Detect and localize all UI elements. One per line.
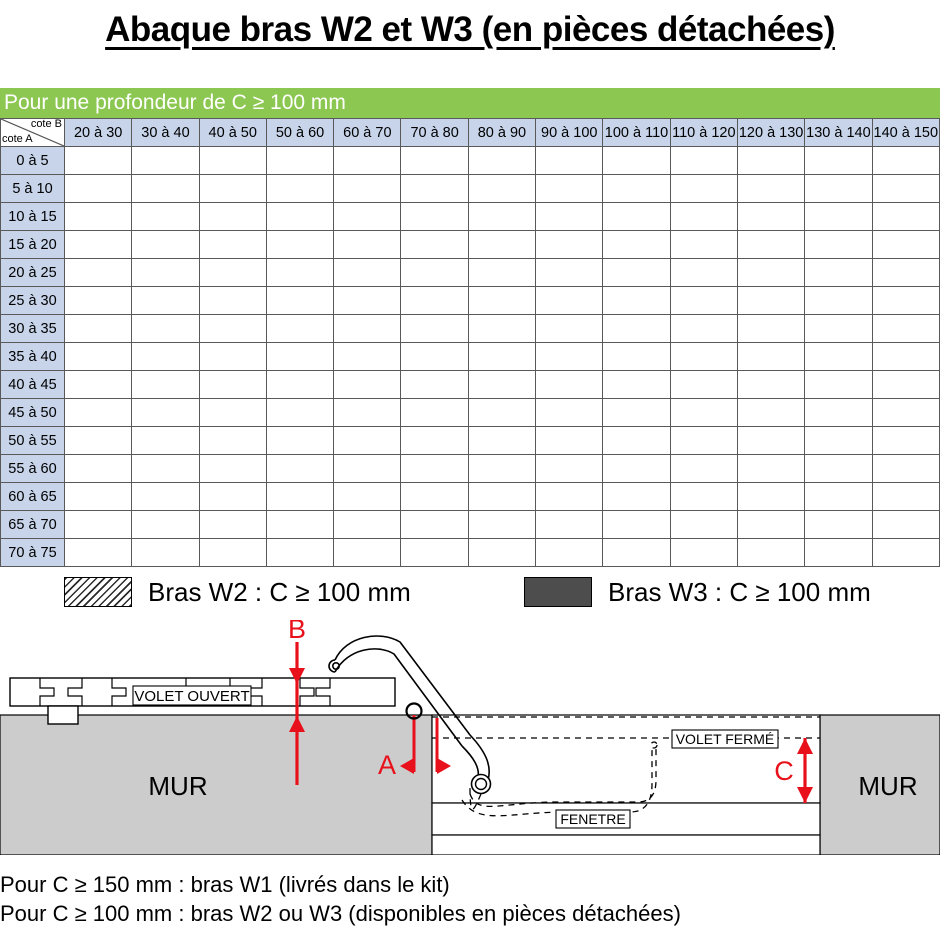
cell-r8-c5 <box>401 371 468 399</box>
cell-r13-c5 <box>401 511 468 539</box>
label-volet-ouvert: VOLET OUVERT <box>133 686 251 705</box>
cell-r8-c12 <box>872 371 939 399</box>
cell-r13-c8 <box>603 511 670 539</box>
cell-r7-c11 <box>805 343 872 371</box>
cell-r10-c5 <box>401 427 468 455</box>
cell-r5-c6 <box>468 287 535 315</box>
cell-r0-c7 <box>536 147 603 175</box>
cell-r6-c10 <box>737 315 804 343</box>
cell-r12-c3 <box>266 483 333 511</box>
table-row: 40 à 45 <box>1 371 940 399</box>
cell-r12-c6 <box>468 483 535 511</box>
column-header-8: 100 à 110 <box>603 119 670 147</box>
cell-r6-c6 <box>468 315 535 343</box>
cell-r7-c3 <box>266 343 333 371</box>
cell-r0-c12 <box>872 147 939 175</box>
cell-r0-c0 <box>65 147 132 175</box>
column-header-4: 60 à 70 <box>334 119 401 147</box>
cell-r6-c9 <box>670 315 737 343</box>
cell-r7-c10 <box>737 343 804 371</box>
cell-r13-c4 <box>334 511 401 539</box>
cell-r6-c5 <box>401 315 468 343</box>
table-row: 70 à 75 <box>1 539 940 567</box>
row-header-5: 25 à 30 <box>1 287 65 315</box>
legend-swatch-w2-icon <box>64 577 132 607</box>
cell-r14-c2 <box>199 539 266 567</box>
column-header-11: 130 à 140 <box>805 119 872 147</box>
cell-r10-c11 <box>805 427 872 455</box>
cell-r4-c12 <box>872 259 939 287</box>
cell-r12-c9 <box>670 483 737 511</box>
installation-diagram: VOLET OUVERT VOLET FERMÉ FENETRE MUR MUR… <box>0 620 940 855</box>
cell-r1-c12 <box>872 175 939 203</box>
cell-r14-c7 <box>536 539 603 567</box>
cell-r3-c4 <box>334 231 401 259</box>
legend-label-w2: Bras W2 : C ≥ 100 mm <box>148 577 411 608</box>
cell-r4-c11 <box>805 259 872 287</box>
row-header-3: 15 à 20 <box>1 231 65 259</box>
cell-r1-c6 <box>468 175 535 203</box>
column-header-10: 120 à 130 <box>737 119 804 147</box>
cell-r9-c0 <box>65 399 132 427</box>
cell-r14-c8 <box>603 539 670 567</box>
cell-r7-c12 <box>872 343 939 371</box>
footnote-line-1: Pour C ≥ 150 mm : bras W1 (livrés dans l… <box>0 870 940 899</box>
cell-r1-c2 <box>199 175 266 203</box>
cell-r2-c8 <box>603 203 670 231</box>
cell-r0-c10 <box>737 147 804 175</box>
footnote-line-2: Pour C ≥ 100 mm : bras W2 ou W3 (disponi… <box>0 899 940 928</box>
dimension-a-label: A <box>378 750 396 780</box>
cell-r1-c1 <box>132 175 199 203</box>
cell-r5-c4 <box>334 287 401 315</box>
legend-item-w3: Bras W3 : C ≥ 100 mm <box>524 577 871 608</box>
cell-r4-c0 <box>65 259 132 287</box>
cell-r6-c0 <box>65 315 132 343</box>
cell-r0-c5 <box>401 147 468 175</box>
label-volet-ouvert-text: VOLET OUVERT <box>134 688 249 705</box>
cell-r4-c8 <box>603 259 670 287</box>
cell-r9-c2 <box>199 399 266 427</box>
cell-r4-c6 <box>468 259 535 287</box>
cell-r9-c1 <box>132 399 199 427</box>
cell-r8-c8 <box>603 371 670 399</box>
row-header-11: 55 à 60 <box>1 455 65 483</box>
table-row: 60 à 65 <box>1 483 940 511</box>
table-row: 65 à 70 <box>1 511 940 539</box>
cell-r8-c6 <box>468 371 535 399</box>
cell-r13-c6 <box>468 511 535 539</box>
cell-r0-c6 <box>468 147 535 175</box>
cell-r2-c3 <box>266 203 333 231</box>
cell-r7-c1 <box>132 343 199 371</box>
cell-r0-c1 <box>132 147 199 175</box>
cell-r6-c2 <box>199 315 266 343</box>
cell-r13-c0 <box>65 511 132 539</box>
cell-r3-c0 <box>65 231 132 259</box>
cell-r8-c4 <box>334 371 401 399</box>
cell-r2-c9 <box>670 203 737 231</box>
row-header-10: 50 à 55 <box>1 427 65 455</box>
cell-r3-c2 <box>199 231 266 259</box>
cell-r14-c12 <box>872 539 939 567</box>
cell-r5-c9 <box>670 287 737 315</box>
row-header-12: 60 à 65 <box>1 483 65 511</box>
cell-r4-c9 <box>670 259 737 287</box>
cell-r10-c3 <box>266 427 333 455</box>
cell-r2-c4 <box>334 203 401 231</box>
cell-r10-c6 <box>468 427 535 455</box>
cell-r1-c4 <box>334 175 401 203</box>
cell-r11-c12 <box>872 455 939 483</box>
cell-r14-c6 <box>468 539 535 567</box>
cell-r7-c2 <box>199 343 266 371</box>
banner-text: Pour une profondeur de C ≥ 100 mm <box>4 91 346 115</box>
cell-r0-c9 <box>670 147 737 175</box>
cell-r5-c2 <box>199 287 266 315</box>
row-header-6: 30 à 35 <box>1 315 65 343</box>
cell-r2-c0 <box>65 203 132 231</box>
cell-r14-c9 <box>670 539 737 567</box>
cell-r3-c9 <box>670 231 737 259</box>
table-row: 55 à 60 <box>1 455 940 483</box>
cell-r9-c12 <box>872 399 939 427</box>
cell-r6-c12 <box>872 315 939 343</box>
cell-r2-c6 <box>468 203 535 231</box>
cell-r4-c3 <box>266 259 333 287</box>
cell-r1-c5 <box>401 175 468 203</box>
table-row: 45 à 50 <box>1 399 940 427</box>
cell-r7-c7 <box>536 343 603 371</box>
wall-left-shape <box>0 715 432 855</box>
cell-r10-c4 <box>334 427 401 455</box>
cell-r5-c11 <box>805 287 872 315</box>
cell-r4-c7 <box>536 259 603 287</box>
cell-r14-c11 <box>805 539 872 567</box>
label-fenetre-text: FENETRE <box>560 811 625 827</box>
cell-r10-c0 <box>65 427 132 455</box>
cell-r0-c2 <box>199 147 266 175</box>
cell-r9-c3 <box>266 399 333 427</box>
cell-r3-c10 <box>737 231 804 259</box>
cell-r13-c3 <box>266 511 333 539</box>
legend-swatch-w3-icon <box>524 577 592 607</box>
table-body: 0 à 55 à 1010 à 1515 à 2020 à 2525 à 303… <box>1 147 940 567</box>
cell-r6-c11 <box>805 315 872 343</box>
cell-r9-c10 <box>737 399 804 427</box>
cell-r2-c7 <box>536 203 603 231</box>
cell-r3-c1 <box>132 231 199 259</box>
cell-r13-c2 <box>199 511 266 539</box>
cell-r14-c0 <box>65 539 132 567</box>
cell-r3-c3 <box>266 231 333 259</box>
column-header-1: 30 à 40 <box>132 119 199 147</box>
row-header-7: 35 à 40 <box>1 343 65 371</box>
table-row: 25 à 30 <box>1 287 940 315</box>
cell-r4-c1 <box>132 259 199 287</box>
cell-r8-c0 <box>65 371 132 399</box>
cell-r12-c2 <box>199 483 266 511</box>
cell-r5-c7 <box>536 287 603 315</box>
cell-r10-c9 <box>670 427 737 455</box>
cell-r3-c8 <box>603 231 670 259</box>
cell-r11-c5 <box>401 455 468 483</box>
table-header-row: cote B cote A 20 à 3030 à 4040 à 5050 à … <box>1 119 940 147</box>
column-header-9: 110 à 120 <box>670 119 737 147</box>
column-header-0: 20 à 30 <box>65 119 132 147</box>
cell-r4-c10 <box>737 259 804 287</box>
cell-r2-c10 <box>737 203 804 231</box>
legend-item-w2: Bras W2 : C ≥ 100 mm <box>64 577 411 608</box>
cell-r8-c10 <box>737 371 804 399</box>
cell-r5-c0 <box>65 287 132 315</box>
label-fenetre: FENETRE <box>556 810 630 828</box>
cell-r13-c12 <box>872 511 939 539</box>
cell-r8-c11 <box>805 371 872 399</box>
cell-r1-c10 <box>737 175 804 203</box>
cell-r3-c5 <box>401 231 468 259</box>
cell-r11-c6 <box>468 455 535 483</box>
cell-r8-c3 <box>266 371 333 399</box>
row-header-0: 0 à 5 <box>1 147 65 175</box>
cell-r1-c9 <box>670 175 737 203</box>
dimension-b-label: B <box>288 620 306 644</box>
label-volet-ferme: VOLET FERMÉ <box>672 730 778 748</box>
cell-r13-c9 <box>670 511 737 539</box>
cell-r11-c7 <box>536 455 603 483</box>
cell-r9-c7 <box>536 399 603 427</box>
cell-r5-c8 <box>603 287 670 315</box>
table-row: 15 à 20 <box>1 231 940 259</box>
cell-r2-c12 <box>872 203 939 231</box>
table-row: 5 à 10 <box>1 175 940 203</box>
cell-r2-c1 <box>132 203 199 231</box>
cell-r1-c0 <box>65 175 132 203</box>
cell-r8-c7 <box>536 371 603 399</box>
cell-r13-c1 <box>132 511 199 539</box>
cell-r4-c4 <box>334 259 401 287</box>
cell-r0-c4 <box>334 147 401 175</box>
table-row: 50 à 55 <box>1 427 940 455</box>
cell-r6-c1 <box>132 315 199 343</box>
cell-r5-c10 <box>737 287 804 315</box>
cell-r11-c3 <box>266 455 333 483</box>
cell-r7-c4 <box>334 343 401 371</box>
cell-r7-c8 <box>603 343 670 371</box>
table-row: 10 à 15 <box>1 203 940 231</box>
cell-r9-c4 <box>334 399 401 427</box>
window-reveal-shape <box>432 715 820 803</box>
cell-r10-c7 <box>536 427 603 455</box>
cell-r14-c5 <box>401 539 468 567</box>
cell-r1-c11 <box>805 175 872 203</box>
cell-r8-c1 <box>132 371 199 399</box>
cell-r11-c0 <box>65 455 132 483</box>
cell-r7-c6 <box>468 343 535 371</box>
cell-r3-c12 <box>872 231 939 259</box>
legend: Bras W2 : C ≥ 100 mm Bras W3 : C ≥ 100 m… <box>0 568 940 616</box>
cell-r4-c2 <box>199 259 266 287</box>
cell-r14-c1 <box>132 539 199 567</box>
cell-r10-c8 <box>603 427 670 455</box>
cell-r1-c3 <box>266 175 333 203</box>
cell-r9-c5 <box>401 399 468 427</box>
cell-r10-c10 <box>737 427 804 455</box>
cell-r2-c2 <box>199 203 266 231</box>
cell-r2-c11 <box>805 203 872 231</box>
cell-r3-c7 <box>536 231 603 259</box>
cell-r11-c10 <box>737 455 804 483</box>
cell-r10-c2 <box>199 427 266 455</box>
legend-label-w3: Bras W3 : C ≥ 100 mm <box>608 577 871 608</box>
cell-r5-c5 <box>401 287 468 315</box>
cell-r10-c12 <box>872 427 939 455</box>
cell-r9-c6 <box>468 399 535 427</box>
abaque-table-wrapper: cote B cote A 20 à 3030 à 4040 à 5050 à … <box>0 118 940 567</box>
page-title: Abaque bras W2 et W3 (en pièces détachée… <box>0 0 940 49</box>
cell-r11-c8 <box>603 455 670 483</box>
cell-r0-c3 <box>266 147 333 175</box>
cell-r6-c4 <box>334 315 401 343</box>
column-header-7: 90 à 100 <box>536 119 603 147</box>
row-header-8: 40 à 45 <box>1 371 65 399</box>
cell-r12-c1 <box>132 483 199 511</box>
cell-r12-c8 <box>603 483 670 511</box>
corner-col-label: cote B <box>31 119 62 130</box>
cell-r2-c5 <box>401 203 468 231</box>
label-mur-left: MUR <box>148 771 207 801</box>
axis-corner-cell: cote B cote A <box>1 119 65 147</box>
cell-r7-c0 <box>65 343 132 371</box>
cell-r5-c12 <box>872 287 939 315</box>
cell-r7-c9 <box>670 343 737 371</box>
cell-r12-c5 <box>401 483 468 511</box>
footnotes: Pour C ≥ 150 mm : bras W1 (livrés dans l… <box>0 870 940 928</box>
label-mur-right: MUR <box>858 771 917 801</box>
cell-r9-c9 <box>670 399 737 427</box>
cell-r11-c11 <box>805 455 872 483</box>
arm-pivot-icon <box>472 775 491 794</box>
cell-r12-c4 <box>334 483 401 511</box>
label-volet-ferme-text: VOLET FERMÉ <box>676 731 775 747</box>
row-header-2: 10 à 15 <box>1 203 65 231</box>
depth-condition-banner: Pour une profondeur de C ≥ 100 mm <box>0 88 940 118</box>
cell-r12-c11 <box>805 483 872 511</box>
cell-r14-c3 <box>266 539 333 567</box>
column-header-3: 50 à 60 <box>266 119 333 147</box>
cell-r4-c5 <box>401 259 468 287</box>
cell-r13-c11 <box>805 511 872 539</box>
abaque-table: cote B cote A 20 à 3030 à 4040 à 5050 à … <box>0 118 940 567</box>
cell-r12-c0 <box>65 483 132 511</box>
dimension-c-label: C <box>774 756 794 786</box>
cell-r5-c1 <box>132 287 199 315</box>
cell-r7-c5 <box>401 343 468 371</box>
cell-r10-c1 <box>132 427 199 455</box>
cell-r9-c11 <box>805 399 872 427</box>
cell-r6-c7 <box>536 315 603 343</box>
installation-diagram-svg: VOLET OUVERT VOLET FERMÉ FENETRE MUR MUR… <box>0 620 940 855</box>
cell-r1-c7 <box>536 175 603 203</box>
row-header-4: 20 à 25 <box>1 259 65 287</box>
table-row: 35 à 40 <box>1 343 940 371</box>
cell-r3-c6 <box>468 231 535 259</box>
column-header-2: 40 à 50 <box>199 119 266 147</box>
cell-r11-c4 <box>334 455 401 483</box>
cell-r5-c3 <box>266 287 333 315</box>
cell-r12-c12 <box>872 483 939 511</box>
column-header-12: 140 à 150 <box>872 119 939 147</box>
cell-r0-c8 <box>603 147 670 175</box>
cell-r14-c10 <box>737 539 804 567</box>
cell-r1-c8 <box>603 175 670 203</box>
cell-r8-c2 <box>199 371 266 399</box>
cell-r6-c3 <box>266 315 333 343</box>
cell-r9-c8 <box>603 399 670 427</box>
window-sill-shape <box>432 835 820 855</box>
column-header-5: 70 à 80 <box>401 119 468 147</box>
table-header: cote B cote A 20 à 3030 à 4040 à 5050 à … <box>1 119 940 147</box>
cell-r12-c7 <box>536 483 603 511</box>
cell-r8-c9 <box>670 371 737 399</box>
row-header-1: 5 à 10 <box>1 175 65 203</box>
column-header-6: 80 à 90 <box>468 119 535 147</box>
table-row: 30 à 35 <box>1 315 940 343</box>
cell-r12-c10 <box>737 483 804 511</box>
cell-r11-c1 <box>132 455 199 483</box>
cell-r13-c10 <box>737 511 804 539</box>
cell-r11-c2 <box>199 455 266 483</box>
corner-row-label: cote A <box>2 134 33 145</box>
cell-r11-c9 <box>670 455 737 483</box>
row-header-14: 70 à 75 <box>1 539 65 567</box>
table-row: 0 à 5 <box>1 147 940 175</box>
cell-r6-c8 <box>603 315 670 343</box>
cell-r14-c4 <box>334 539 401 567</box>
cell-r0-c11 <box>805 147 872 175</box>
table-row: 20 à 25 <box>1 259 940 287</box>
cell-r13-c7 <box>536 511 603 539</box>
row-header-9: 45 à 50 <box>1 399 65 427</box>
row-header-13: 65 à 70 <box>1 511 65 539</box>
cell-r3-c11 <box>805 231 872 259</box>
